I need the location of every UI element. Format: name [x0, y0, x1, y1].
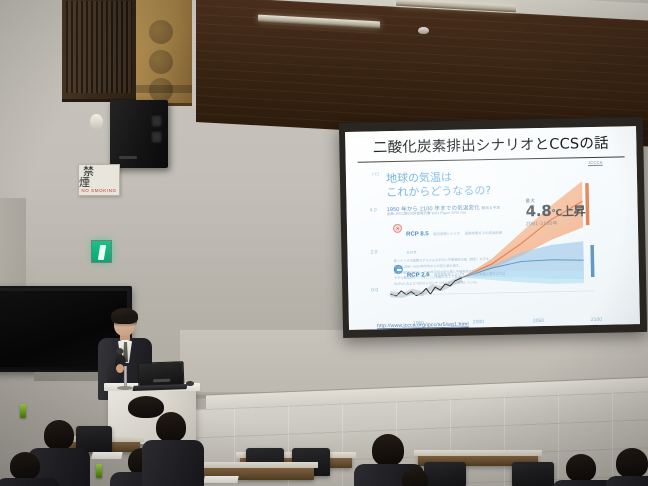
audience-member — [612, 448, 648, 486]
paper-document — [203, 476, 238, 483]
audience-member — [556, 454, 612, 486]
wall-cabinet-dark — [62, 0, 136, 102]
audience-head — [402, 468, 428, 486]
legend-label-rcp85: RCP 8.5 — [406, 231, 429, 237]
beverage-can — [96, 464, 102, 478]
audience-head — [44, 420, 74, 450]
legend-item-rcp85: RCP 8.5 高位参照シナリオ 温室効果ガスの排出削減をせず — [393, 220, 506, 258]
cabinet-speaker-cone — [149, 50, 173, 74]
computer-mouse[interactable] — [186, 381, 194, 386]
chart-body-notes: 各シナリオの複数モデルによる平均と不確実性の幅（陰影）を示す。 黒線は1986〜… — [394, 256, 519, 288]
chair[interactable] — [512, 462, 554, 486]
emergency-exit-sign — [91, 240, 112, 263]
desk-surface — [414, 450, 542, 456]
x-tick-2050: 2050 — [533, 318, 544, 324]
speaker-brand-mark — [119, 156, 137, 159]
x-tick-2000: 2000 — [473, 319, 484, 325]
audience-torso — [606, 476, 648, 486]
y-axis-unit: (°C) — [372, 171, 379, 176]
audience-head-partial — [128, 396, 148, 412]
audience-head — [10, 452, 40, 480]
audience-head — [156, 412, 186, 442]
no-smoking-sign: 禁 煙 NO SMOKING — [78, 164, 120, 196]
annotation-suffix: 上昇 — [562, 204, 586, 218]
presenter-hair — [111, 308, 138, 324]
laptop-logo — [153, 379, 170, 383]
wall-cabinet-light — [136, 0, 192, 106]
audience-member — [144, 412, 200, 486]
audience-torso — [0, 478, 60, 486]
projection-surface: 二酸化炭素排出シナリオとCCSの話 JCCCA (°C) 4.0 2.0 0.0… — [345, 126, 640, 330]
audience-head — [566, 454, 596, 482]
y-tick-2: 2.0 — [370, 249, 377, 255]
microphone-stand-base — [117, 386, 133, 390]
y-tick-4: 4.0 — [370, 207, 377, 213]
beverage-can — [20, 404, 26, 418]
no-smoking-kanji: 禁 煙 — [79, 166, 119, 188]
exit-running-figure-icon — [98, 245, 106, 260]
legend-text-group: RCP 8.5 高位参照シナリオ 温室効果ガスの排出削減をせず — [406, 220, 506, 258]
slide-source-url[interactable]: http://www.jccca.org/ipcc/ar5/wg1.html — [377, 322, 469, 330]
slide-title: 二酸化炭素排出シナリオとCCSの話 — [353, 130, 628, 157]
wall-sconce-light — [90, 114, 103, 129]
audience-head — [372, 434, 404, 466]
speaker-port-icon — [151, 115, 162, 127]
smoke-detector-icon — [418, 27, 429, 34]
presentation-slide: 二酸化炭素排出シナリオとCCSの話 JCCCA (°C) 4.0 2.0 0.0… — [345, 126, 640, 330]
annotation-unit: °C — [551, 208, 562, 218]
presenter-hand — [116, 364, 124, 373]
wall-speaker — [110, 100, 168, 168]
slide-chart-area: (°C) 4.0 2.0 0.0 地球の気温は これからどうなるの? 1950 … — [364, 166, 626, 311]
display-mount — [34, 372, 100, 381]
audience-member — [0, 452, 56, 486]
x-axis-unit: (年) — [593, 323, 598, 328]
annotation-value: 4.8 — [525, 201, 551, 220]
projection-screen: 二酸化炭素排出シナリオとCCSの話 JCCCA (°C) 4.0 2.0 0.0… — [339, 117, 647, 338]
annotation-period: 2081-2100年 — [526, 218, 618, 227]
y-tick-0: 0.0 — [371, 287, 378, 293]
desk-surface — [192, 462, 318, 468]
annotation-value-row: 4.8°C上昇 — [526, 202, 618, 219]
legend-desc-rcp85: 高位参照シナリオ — [433, 231, 460, 236]
speaker-port-icon — [151, 131, 162, 143]
audience-head — [128, 396, 164, 418]
audience-member — [396, 468, 440, 486]
audience-head — [616, 448, 648, 478]
rcp26-range-bar — [590, 245, 594, 277]
cabinet-ledge — [136, 85, 192, 93]
max-rise-annotation: 最大 4.8°C上昇 2081-2100年 — [525, 196, 618, 227]
lecture-hall-photo: 禁 煙 NO SMOKING 二酸化炭素排出シナリオとCCSの話 JCCCA (… — [0, 0, 648, 486]
rcp85-badge-icon — [393, 223, 402, 232]
cabinet-speaker-cone — [149, 20, 173, 44]
audience-torso — [142, 440, 204, 486]
no-smoking-english: NO SMOKING — [81, 189, 116, 194]
